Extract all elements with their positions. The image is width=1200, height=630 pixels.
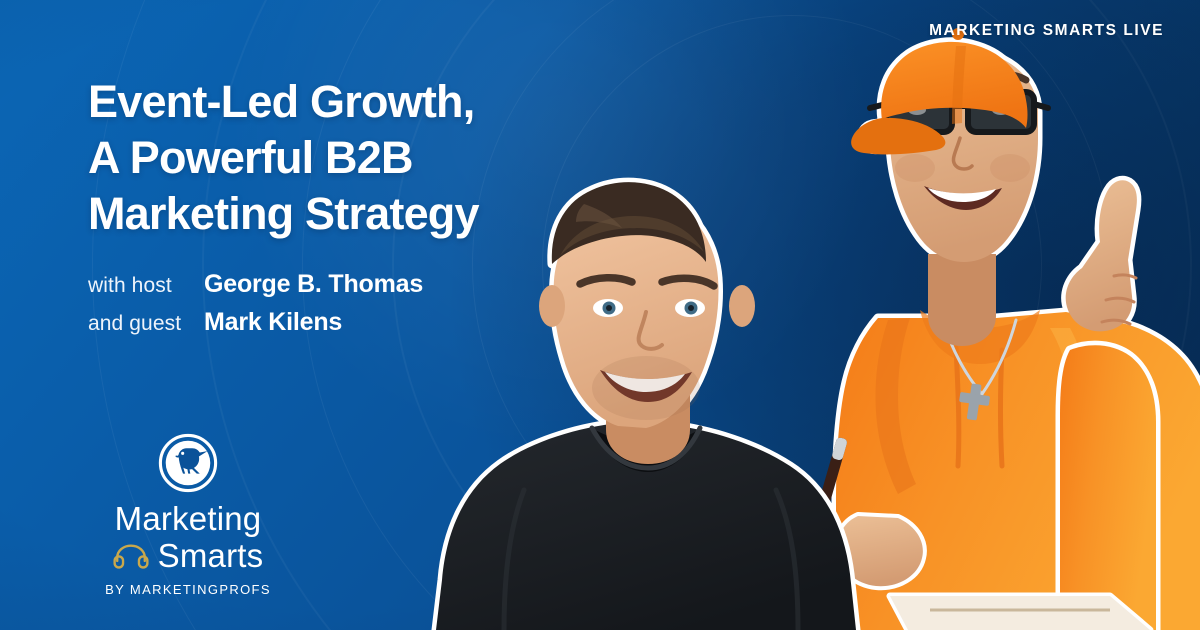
credit-guest: and guest Mark Kilens (88, 308, 423, 337)
credit-host-role: with host (88, 274, 204, 298)
host-portrait (432, 160, 862, 630)
logo-word-marketing: Marketing (88, 500, 288, 538)
credit-host: with host George B. Thomas (88, 270, 423, 299)
page-title-line-2: A Powerful B2B (88, 130, 479, 186)
headphones-icon (113, 543, 149, 569)
promo-card: MARKETING SMARTS LIVE Event-Led Growth, … (0, 0, 1200, 630)
show-name-kicker: MARKETING SMARTS LIVE (929, 22, 1164, 40)
credits: with host George B. Thomas and guest Mar… (88, 270, 423, 346)
credit-guest-role: and guest (88, 312, 204, 336)
page-title: Event-Led Growth, A Powerful B2B Marketi… (88, 74, 479, 242)
page-title-line-3: Marketing Strategy (88, 186, 479, 242)
logo-row-smarts: Smarts (88, 537, 288, 575)
logo-word-smarts: Smarts (158, 537, 264, 575)
logo-subtitle: BY MARKETINGPROFS (88, 582, 288, 597)
credit-guest-name: Mark Kilens (204, 308, 342, 337)
host-portrait-illustration (432, 160, 862, 630)
bird-in-circle-icon (157, 432, 219, 494)
credit-host-name: George B. Thomas (204, 270, 423, 299)
marketing-smarts-logo: Marketing Smarts BY MARKETINGPROFS (88, 432, 288, 597)
page-title-line-1: Event-Led Growth, (88, 74, 479, 130)
